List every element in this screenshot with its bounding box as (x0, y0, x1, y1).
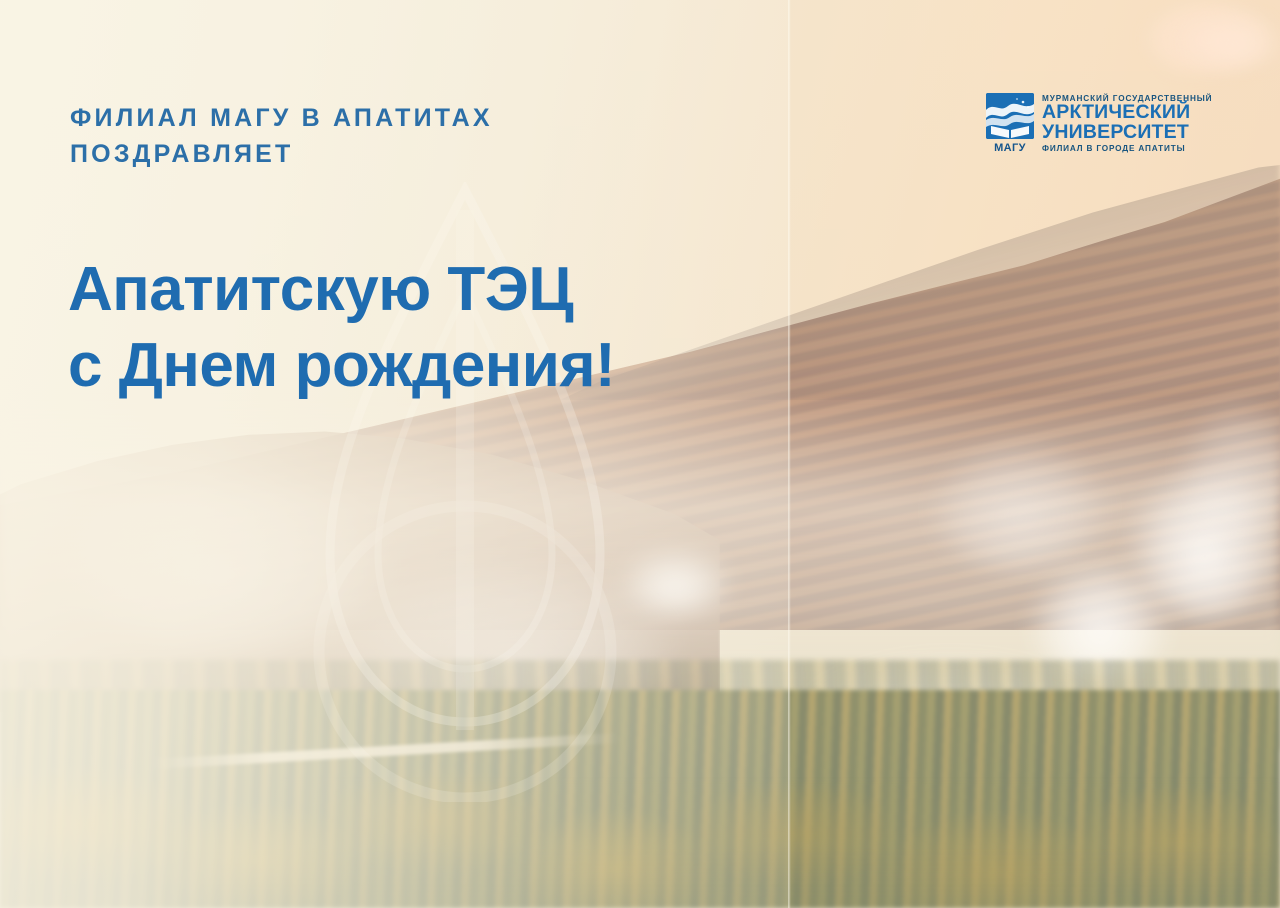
magu-logo[interactable]: МАГУ МУРМАНСКИЙ ГОСУДАРСТВЕННЫЙ АРКТИЧЕС… (986, 90, 1191, 156)
page-title: Апатитскую ТЭЦ с Днем рождения! (68, 252, 768, 403)
steam-plume (930, 440, 1110, 570)
cloud-secondary-icon (1180, 10, 1280, 66)
headline-line-2: с Днем рождения! (68, 328, 768, 404)
logo-magu-label: МАГУ (986, 142, 1034, 154)
logo-wordmark: МУРМАНСКИЙ ГОСУДАРСТВЕННЫЙ АРКТИЧЕСКИЙ У… (1042, 93, 1212, 153)
greeting-poster: ФИЛИАЛ МАГУ В АПАТИТАХ ПОЗДРАВЛЯЕТ Апати… (0, 0, 1280, 908)
foreground-shade (0, 780, 1280, 908)
logo-line-4: ФИЛИАЛ В ГОРОДЕ АПАТИТЫ (1042, 144, 1212, 153)
logo-mark: МАГУ (986, 93, 1034, 154)
headline-line-1: Апатитскую ТЭЦ (68, 252, 768, 328)
steam-plume (60, 470, 390, 650)
logo-line-3: УНИВЕРСИТЕТ (1042, 123, 1212, 143)
kicker-text: ФИЛИАЛ МАГУ В АПАТИТАХ ПОЗДРАВЛЯЕТ (70, 100, 690, 173)
arctic-emblem-icon (986, 93, 1034, 139)
